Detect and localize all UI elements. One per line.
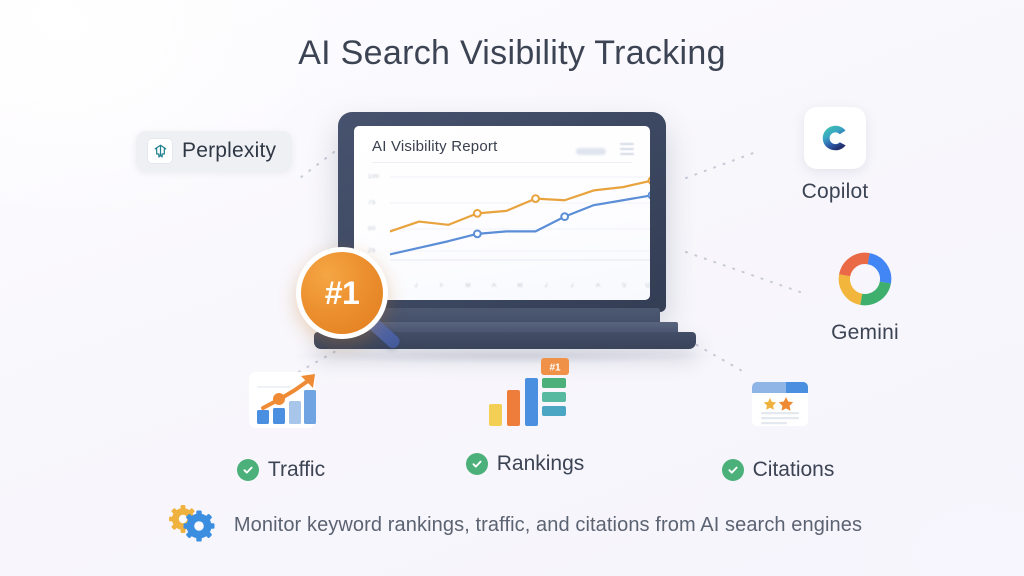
feature-label-rankings: Rankings bbox=[430, 452, 620, 476]
brand-label-gemini: Gemini bbox=[772, 321, 958, 345]
chart-data-point bbox=[649, 177, 650, 184]
y-tick: 75 bbox=[368, 200, 376, 206]
feature-label-traffic: Traffic bbox=[186, 458, 376, 482]
check-circle-icon bbox=[466, 453, 488, 475]
gears-icon bbox=[162, 505, 220, 545]
footer-text: Monitor keyword rankings, traffic, and c… bbox=[234, 514, 862, 537]
chart-data-point bbox=[474, 230, 481, 237]
brand-label-copilot: Copilot bbox=[742, 180, 928, 204]
x-tick: A bbox=[596, 283, 600, 289]
rank-badge-label: #1 bbox=[301, 252, 383, 334]
feature-rankings[interactable]: #1 Rankings bbox=[430, 360, 620, 476]
brand-node-copilot[interactable]: Copilot bbox=[742, 107, 928, 204]
chart-plot-area bbox=[390, 168, 650, 268]
brand-node-gemini[interactable]: Gemini bbox=[772, 248, 958, 345]
perplexity-logo-icon bbox=[147, 138, 173, 164]
feature-label-citations: Citations bbox=[678, 458, 878, 482]
x-tick: F bbox=[440, 283, 444, 289]
x-tick: M bbox=[518, 283, 523, 289]
report-title: AI Visibility Report bbox=[372, 138, 497, 155]
copilot-logo-tile bbox=[804, 107, 866, 169]
citation-card-icon bbox=[678, 366, 878, 444]
copilot-logo-icon bbox=[814, 117, 856, 159]
brand-label-perplexity: Perplexity bbox=[182, 139, 276, 163]
magnifier-ring: #1 bbox=[296, 247, 388, 339]
check-circle-icon bbox=[722, 459, 744, 481]
footer-caption: Monitor keyword rankings, traffic, and c… bbox=[0, 505, 1024, 545]
connector-to-perplexity bbox=[300, 152, 334, 178]
y-tick: 50 bbox=[368, 226, 376, 232]
x-tick: M bbox=[466, 283, 471, 289]
sparkline-blob-icon bbox=[576, 148, 606, 155]
x-tick: S bbox=[622, 283, 626, 289]
rank-badge-magnifier: #1 bbox=[296, 247, 426, 357]
chart-x-axis: J F M A M J J A S O bbox=[390, 283, 640, 293]
feature-name-text: Traffic bbox=[268, 458, 325, 482]
x-tick: O bbox=[646, 283, 650, 289]
gemini-logo-icon bbox=[834, 246, 896, 312]
brand-node-perplexity[interactable]: Perplexity bbox=[136, 131, 292, 171]
rankings-bar-chart-icon: #1 bbox=[430, 360, 620, 438]
feature-name-text: Rankings bbox=[497, 452, 585, 476]
gemini-logo-tile bbox=[834, 248, 896, 310]
feature-citations[interactable]: Citations bbox=[678, 366, 878, 482]
screen-divider bbox=[372, 162, 632, 163]
rankings-badge-label: #1 bbox=[549, 363, 561, 374]
check-circle-icon bbox=[237, 459, 259, 481]
kebab-menu-icon[interactable] bbox=[620, 143, 634, 158]
x-tick: J bbox=[571, 283, 574, 289]
chart-data-point bbox=[561, 213, 568, 220]
feature-traffic[interactable]: Traffic bbox=[186, 366, 376, 482]
page-title: AI Search Visibility Tracking bbox=[0, 34, 1024, 73]
chart-data-point bbox=[532, 195, 539, 202]
x-tick: J bbox=[545, 283, 548, 289]
feature-name-text: Citations bbox=[753, 458, 835, 482]
traffic-growth-chart-icon bbox=[186, 366, 376, 444]
y-tick: 100 bbox=[368, 174, 380, 180]
chart-data-point bbox=[649, 192, 650, 199]
chart-data-point bbox=[474, 210, 481, 217]
x-tick: A bbox=[492, 283, 496, 289]
